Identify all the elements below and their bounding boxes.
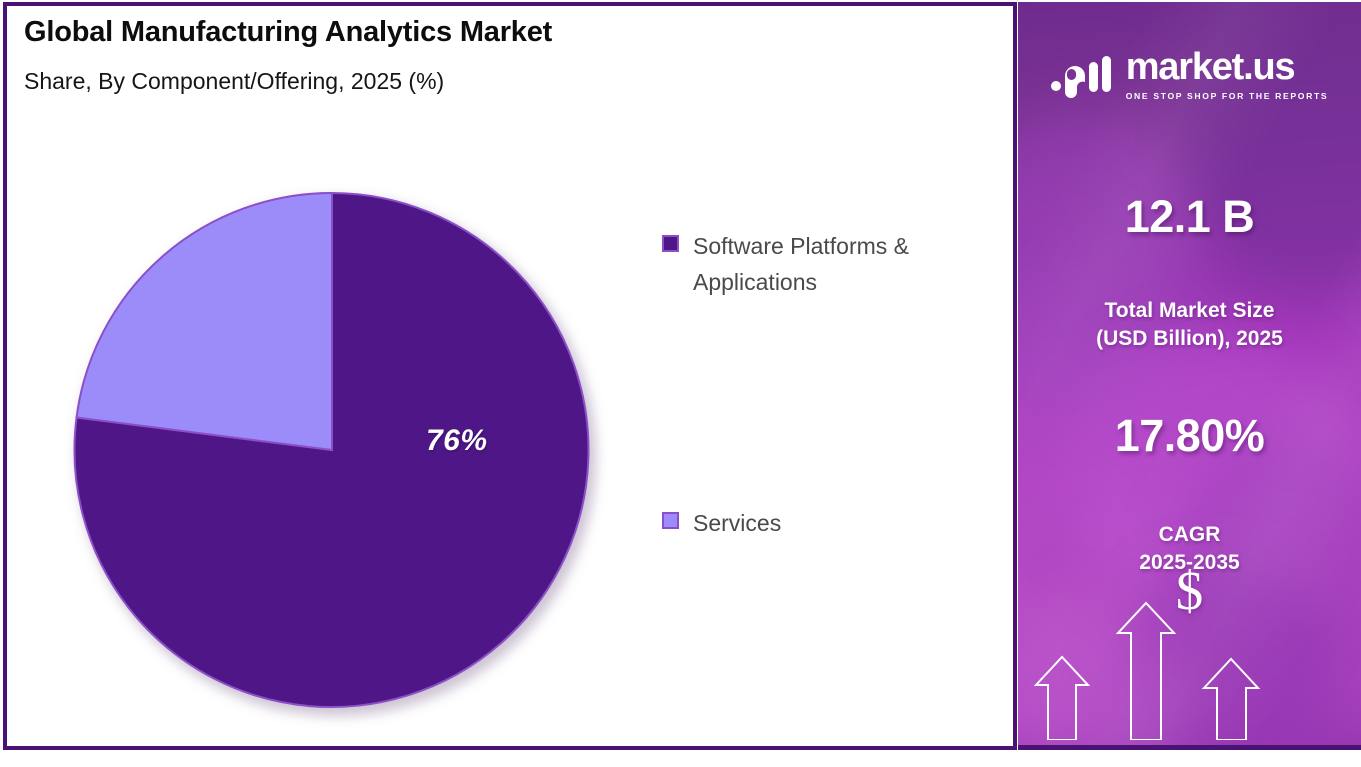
stat-cagr-caption-line1: CAGR [1018,521,1361,549]
legend: Software Platforms & Applications Servic… [662,228,992,541]
pie-chart: 76% [71,189,598,716]
pie-slice-services[interactable] [77,193,332,450]
stat-market-size-caption-line2: (USD Billion), 2025 [1018,325,1361,353]
stat-market-size-value: 12.1 B [1018,194,1361,239]
legend-item-services[interactable]: Services [662,505,992,541]
stat-market-size-caption-line1: Total Market Size [1018,297,1361,325]
pie-slice-label-software-platforms-applications: 76% [426,424,488,458]
market-us-logo-icon [1051,52,1115,98]
stat-cagr: 17.80% CAGR 2025-2035 [1018,413,1361,577]
growth-arrows-icon [1018,555,1361,740]
legend-label-services: Services [693,505,781,541]
infographic-root: Global Manufacturing Analytics Market Sh… [0,0,1361,767]
page-title: Global Manufacturing Analytics Market [24,14,984,50]
brand-wordmark: market.us [1126,48,1329,86]
legend-swatch-icon-services [662,512,679,529]
brand-tagline: ONE STOP SHOP FOR THE REPORTS [1126,91,1329,101]
brand-logo[interactable]: market.us ONE STOP SHOP FOR THE REPORTS [1018,48,1361,101]
chart-panel: Global Manufacturing Analytics Market Sh… [3,2,1017,750]
chart-subtitle: Share, By Component/Offering, 2025 (%) [24,67,984,97]
stat-cagr-value: 17.80% [1018,413,1361,458]
growth-artwork: $ [1018,555,1361,740]
stat-market-size-caption: Total Market Size (USD Billion), 2025 [1018,297,1361,353]
legend-swatch-icon-software-platforms-applications [662,235,679,252]
brand-text-block: market.us ONE STOP SHOP FOR THE REPORTS [1126,48,1329,101]
stats-panel: market.us ONE STOP SHOP FOR THE REPORTS … [1018,2,1361,750]
legend-item-software-platforms-applications[interactable]: Software Platforms & Applications [662,228,992,301]
pie-chart-svg [71,189,598,716]
stat-market-size: 12.1 B Total Market Size (USD Billion), … [1018,194,1361,353]
legend-label-software-platforms-applications: Software Platforms & Applications [693,228,992,301]
chart-header: Global Manufacturing Analytics Market Sh… [24,14,984,97]
